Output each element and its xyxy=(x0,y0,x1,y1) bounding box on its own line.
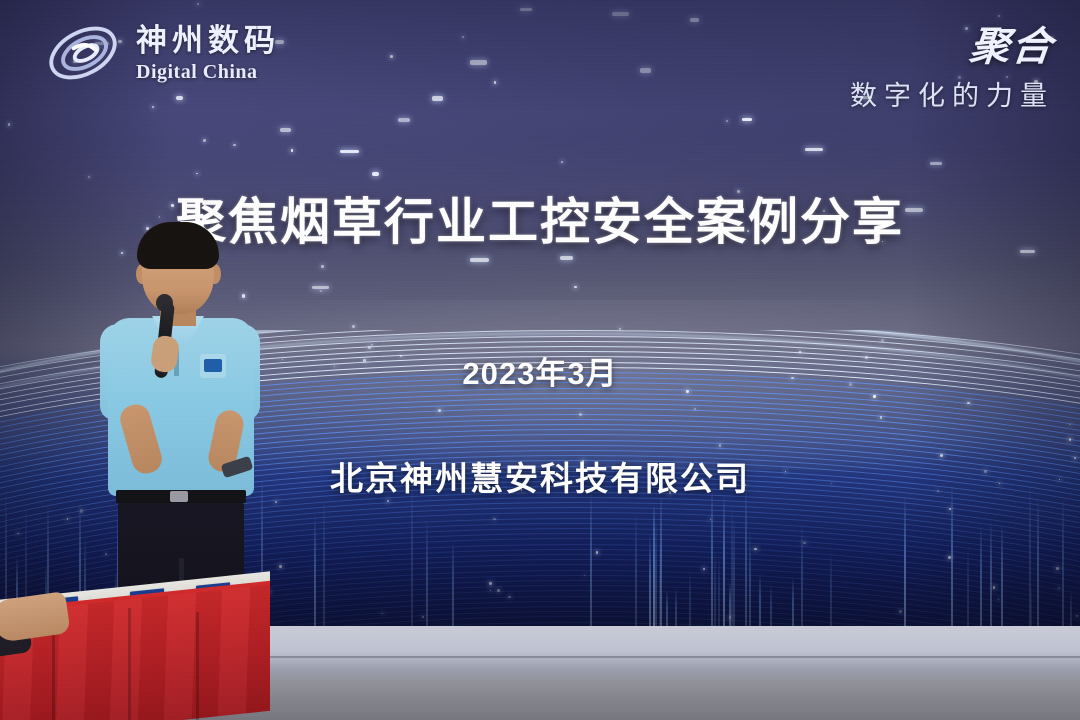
conference-photo: 神州数码 Digital China 聚合 数字化的力量 聚焦烟草行业工控安全案… xyxy=(0,0,1080,720)
table-cloth-fold xyxy=(128,608,131,720)
speaker-belt-buckle xyxy=(170,491,188,502)
slogan-headline: 聚合 xyxy=(847,14,1057,72)
slogan-subhead: 数字化的力量 xyxy=(850,74,1054,113)
event-slogan: 聚合 数字化的力量 xyxy=(850,14,1054,113)
speaker-hair xyxy=(137,222,219,269)
brand-name-en: Digital China xyxy=(136,62,280,82)
swirl-galaxy-icon xyxy=(44,22,122,84)
speaker-chest-logo xyxy=(200,354,226,378)
brand-name-cn: 神州数码 xyxy=(136,25,280,56)
table-cloth-fold xyxy=(196,612,199,720)
brand-logo: 神州数码 Digital China xyxy=(44,22,280,84)
